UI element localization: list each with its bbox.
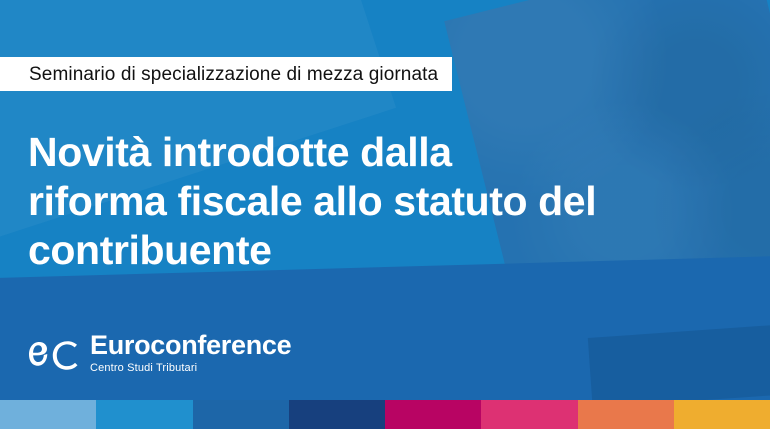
color-swatch-orange xyxy=(578,400,674,429)
brand-color-bar xyxy=(0,400,770,429)
kicker-badge: Seminario di specializzazione di mezza g… xyxy=(0,57,452,91)
ec-monogram-icon xyxy=(29,334,79,374)
color-swatch-blue xyxy=(96,400,192,429)
logo-tagline: Centro Studi Tributari xyxy=(90,361,291,375)
page-title: Novità introdotte dalla riforma fiscale … xyxy=(28,128,740,275)
kicker-label: Seminario di specializzazione di mezza g… xyxy=(29,65,438,84)
logo-text-block: Euroconference Centro Studi Tributari xyxy=(90,332,291,375)
color-swatch-light-blue xyxy=(0,400,96,429)
banner-content: Seminario di specializzazione di mezza g… xyxy=(0,0,770,429)
color-swatch-magenta xyxy=(385,400,481,429)
promo-banner: Seminario di specializzazione di mezza g… xyxy=(0,0,770,429)
headline-line-1: Novità introdotte dalla xyxy=(28,128,740,177)
headline-line-2: riforma fiscale allo statuto del xyxy=(28,177,740,226)
color-swatch-pink xyxy=(481,400,577,429)
brand-logo: Euroconference Centro Studi Tributari xyxy=(29,332,291,375)
color-swatch-amber xyxy=(674,400,770,429)
logo-name: Euroconference xyxy=(90,332,291,359)
headline-line-3: contribuente xyxy=(28,226,740,275)
color-swatch-navy xyxy=(289,400,385,429)
color-swatch-medium-blue xyxy=(193,400,289,429)
